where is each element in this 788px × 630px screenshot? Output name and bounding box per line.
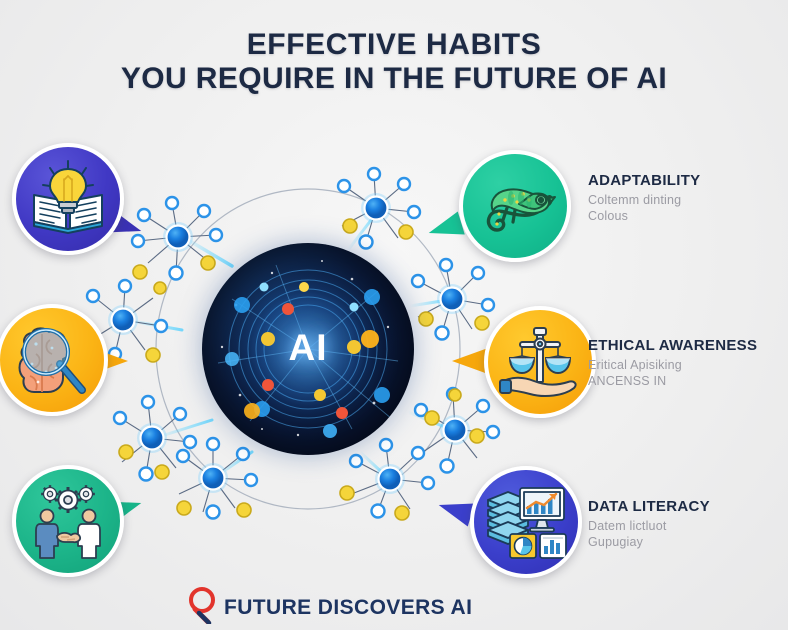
label-subtext-line2: Colous [588,209,788,225]
ai-core-label: AI [202,327,414,369]
label-ethical-awareness: ETHICAL AWARENESS Eritical Apisiking ANC… [588,337,788,389]
handshake-gears-icon [27,480,109,562]
bubble-data-literacy[interactable] [470,466,582,578]
label-subtext-line2: Gupugiay [588,535,788,551]
label-data-literacy: DATA LITERACY Datem lictluot Gupugiay [588,498,788,550]
bubble-continuous-learning[interactable] [12,143,124,255]
label-subtext-line1: Eritical Apisiking [588,358,682,372]
label-subtext-line1: Coltemm dinting [588,193,681,207]
infographic-canvas: EFFECTIVE HABITS YOU REQUIRE IN THE FUTU… [0,0,788,630]
label-subtext: Coltemm dinting Colous [588,193,788,224]
chameleon-icon [473,164,557,248]
book-lightbulb-icon [28,159,108,239]
magnifier-icon [186,586,220,629]
bubble-collaboration[interactable] [12,465,124,577]
label-adaptability: ADAPTABILITY Coltemm dinting Colous [588,172,788,224]
brain-magnifier-icon [12,320,92,400]
label-subtext-line2: ANCENSS IN [588,374,788,390]
label-subtext: Eritical Apisiking ANCENSS IN [588,358,788,389]
database-chart-icon [484,480,568,564]
label-title: ETHICAL AWARENESS [588,337,788,355]
label-subtext: Datem lictluot Gupugiay [588,519,788,550]
brand-logo[interactable]: FUTURE DISCOVERS AI [186,586,472,629]
brand-name: FUTURE DISCOVERS AI [224,596,472,620]
label-title: DATA LITERACY [588,498,788,516]
scales-hand-icon [498,320,582,404]
bubble-tail-ethical-awareness [452,348,488,374]
bubble-ethical-awareness[interactable] [484,306,596,418]
bubble-adaptability[interactable] [459,150,571,262]
ai-core-sphere: AI [202,243,414,455]
bubble-critical-thinking[interactable] [0,304,108,416]
label-title: ADAPTABILITY [588,172,788,190]
label-subtext-line1: Datem lictluot [588,519,667,533]
